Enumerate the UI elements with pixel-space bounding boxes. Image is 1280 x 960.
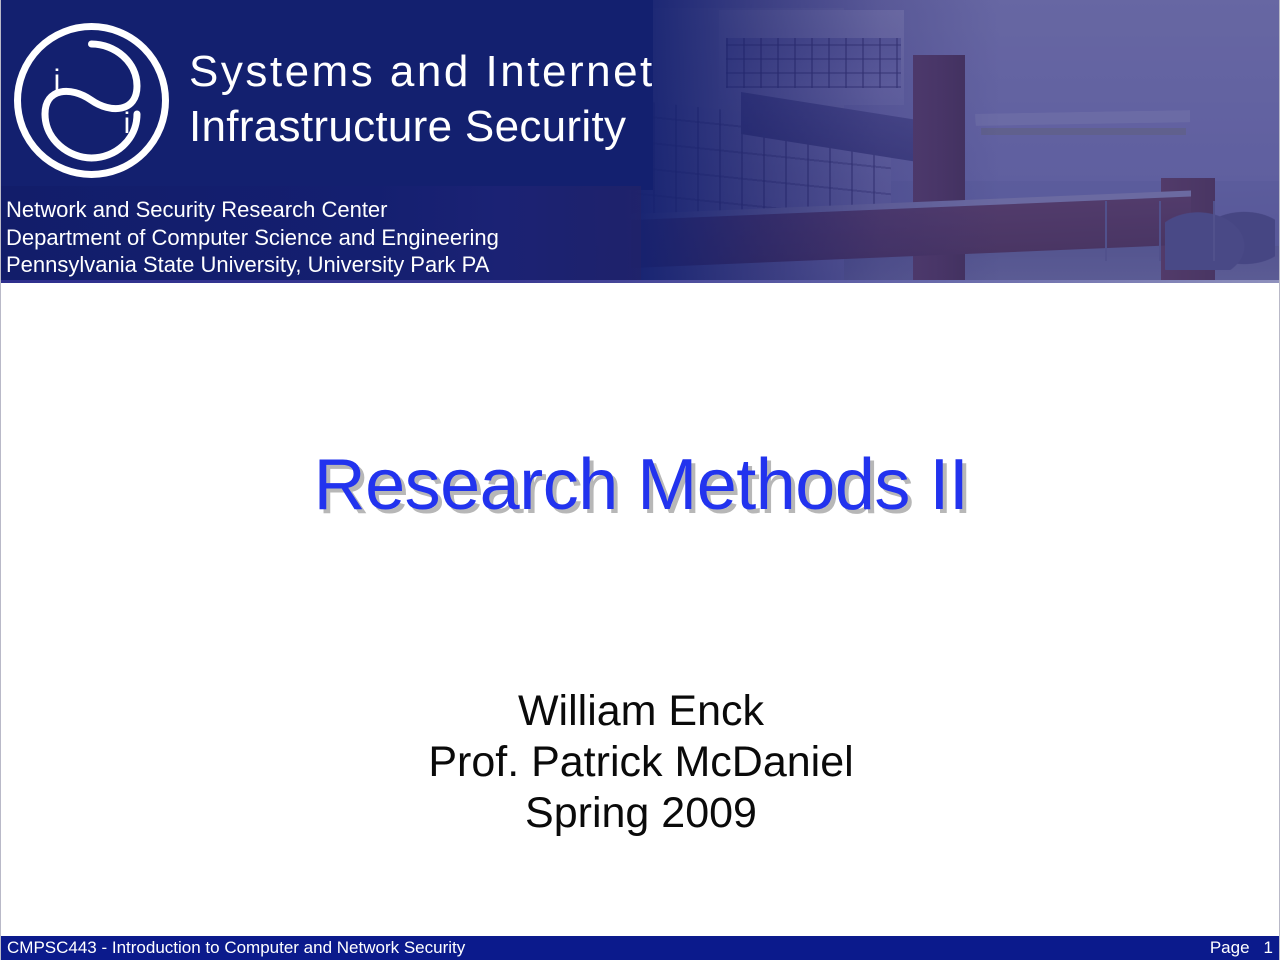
organization-title-line-2: Infrastructure Security bbox=[189, 99, 655, 154]
slide-footer: CMPSC443 - Introduction to Computer and … bbox=[1, 936, 1280, 960]
footer-page-indicator: Page1 bbox=[1210, 936, 1273, 960]
slide-header-banner: i i Systems and Internet Infrastructure … bbox=[1, 0, 1280, 283]
presentation-slide: i i Systems and Internet Infrastructure … bbox=[0, 0, 1280, 960]
semester: Spring 2009 bbox=[1, 788, 1280, 839]
affiliation-line-1: Network and Security Research Center bbox=[6, 196, 499, 224]
instructor-name: Prof. Patrick McDaniel bbox=[1, 737, 1280, 788]
affiliation-block: Network and Security Research Center Dep… bbox=[6, 196, 499, 279]
affiliation-line-2: Department of Computer Science and Engin… bbox=[6, 224, 499, 252]
header-bottom-rule bbox=[1, 280, 1280, 283]
footer-course-label: CMPSC443 - Introduction to Computer and … bbox=[7, 936, 465, 960]
logo-letter-i-bottom: i bbox=[124, 107, 131, 140]
slide-title: Research Methods II bbox=[1, 444, 1280, 526]
affiliation-line-3: Pennsylvania State University, Universit… bbox=[6, 251, 499, 279]
footer-page-label: Page bbox=[1210, 938, 1250, 957]
footer-page-number: 1 bbox=[1264, 938, 1273, 957]
organization-title-line-1: Systems and Internet bbox=[189, 44, 655, 99]
author-block: William Enck Prof. Patrick McDaniel Spri… bbox=[1, 686, 1280, 839]
logo-letter-i-top: i bbox=[54, 64, 61, 97]
organization-title: Systems and Internet Infrastructure Secu… bbox=[189, 44, 655, 154]
author-name: William Enck bbox=[1, 686, 1280, 737]
isis-circle-logo: i i bbox=[9, 18, 174, 183]
